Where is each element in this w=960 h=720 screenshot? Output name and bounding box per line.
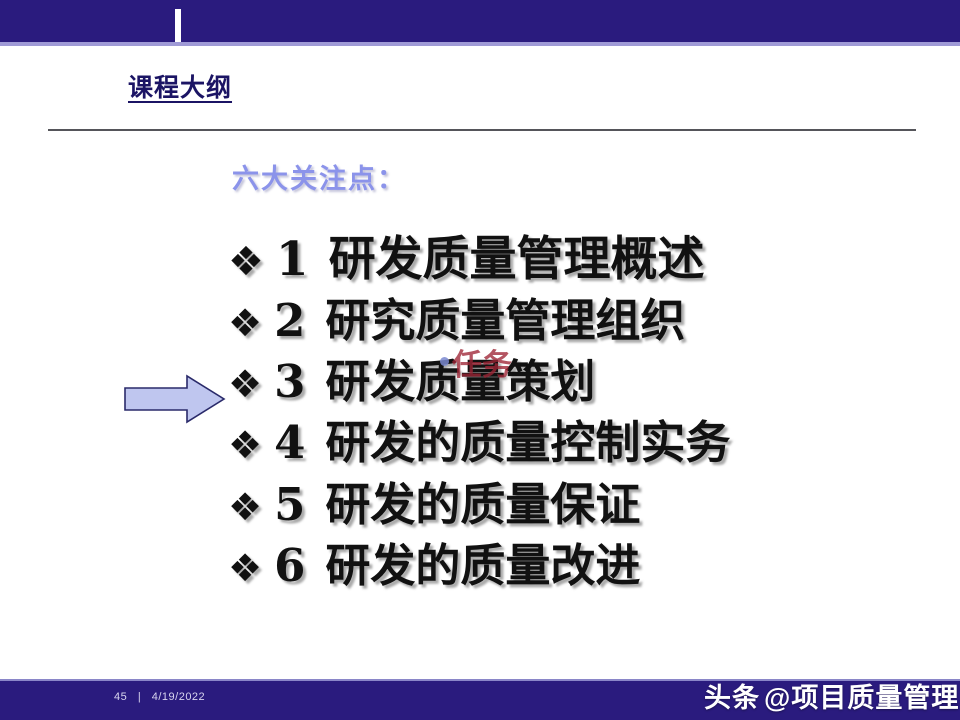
- list-item-number: 2: [274, 298, 305, 343]
- diamond-bullet-icon: ❖: [228, 426, 262, 464]
- list-item-label: 研发的质量改进: [325, 543, 640, 588]
- footer-page-number: 45: [114, 691, 127, 703]
- page-title: 课程大纲: [128, 68, 232, 104]
- list-item[interactable]: ❖ 6 研发的质量改进: [228, 543, 928, 604]
- title-divider: [48, 129, 916, 131]
- list-item[interactable]: ❖ 4 研发的质量控制实务: [228, 420, 928, 482]
- diamond-bullet-icon: ❖: [228, 365, 262, 403]
- footer-date: 4/19/2022: [152, 691, 205, 703]
- list-item-number: 5: [274, 482, 305, 527]
- watermark: 头条@项目质量管理: [704, 676, 959, 715]
- list-item-number: 4: [274, 420, 305, 465]
- section-subheading: 六大关注点：: [232, 157, 406, 196]
- right-arrow-pointer-icon: [124, 374, 226, 424]
- slide-canvas: 课程大纲 六大关注点： ❖ 1 研发质量管理概述 ❖ 2 研究质量管理组织 ❖ …: [0, 0, 960, 720]
- header-band: [0, 0, 960, 42]
- annotation-red-note: 任务: [452, 340, 512, 384]
- annotation-dot: [440, 357, 449, 366]
- list-item-label: 研发的质量保证: [325, 482, 640, 527]
- diamond-bullet-icon: ❖: [228, 304, 262, 342]
- list-item-number: 3: [274, 359, 305, 404]
- text-cursor-icon: [175, 9, 181, 42]
- list-item-number: 1: [276, 236, 309, 283]
- outline-list: ❖ 1 研发质量管理概述 ❖ 2 研究质量管理组织 ❖ 3 研发质量策划 ❖ 4…: [228, 236, 928, 604]
- diamond-bullet-icon: ❖: [228, 488, 262, 526]
- watermark-brand: 头条: [704, 683, 760, 713]
- list-item-number: 6: [274, 543, 305, 588]
- list-item[interactable]: ❖ 5 研发的质量保证: [228, 482, 928, 543]
- diamond-bullet-icon: ❖: [228, 242, 264, 282]
- diamond-bullet-icon: ❖: [228, 549, 262, 587]
- footer-separator: |: [138, 691, 141, 703]
- list-item-label: 研究质量管理组织: [325, 298, 685, 343]
- list-item[interactable]: ❖ 3 研发质量策划: [228, 359, 928, 420]
- list-item-label: 研发的质量控制实务: [325, 420, 730, 465]
- header-band-accent: [0, 42, 960, 46]
- list-item-label: 研发质量管理概述: [329, 236, 705, 283]
- watermark-handle: @项目质量管理: [764, 683, 959, 713]
- footer-meta: 45 | 4/19/2022: [114, 691, 205, 703]
- list-item[interactable]: ❖ 2 研究质量管理组织: [228, 298, 928, 359]
- list-item[interactable]: ❖ 1 研发质量管理概述: [228, 236, 928, 298]
